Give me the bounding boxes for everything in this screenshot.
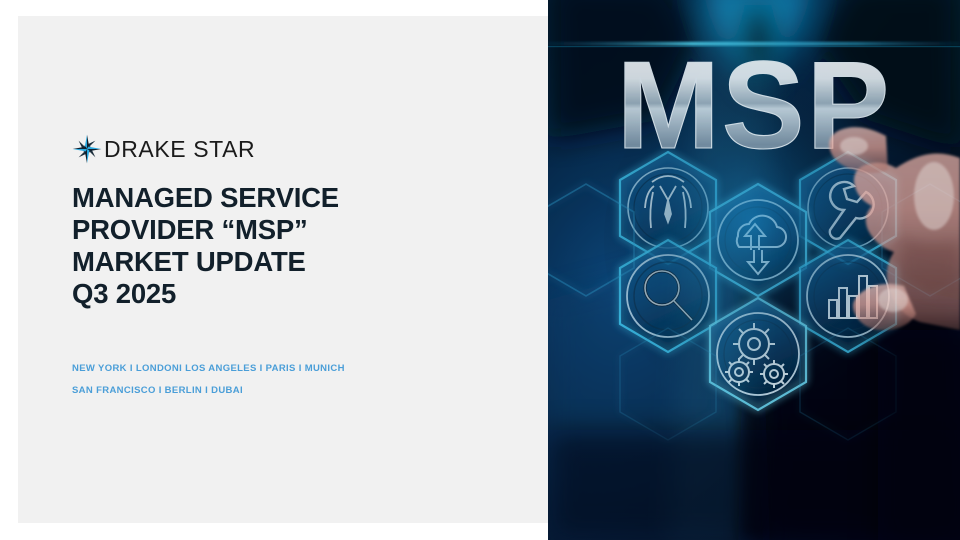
hero-photo: MSP	[548, 0, 960, 540]
title-slide: DRAKE STAR MANAGED SERVICE PROVIDER “MSP…	[0, 0, 960, 540]
office-line-2: SAN FRANCISCO I BERLIN I DUBAI	[72, 380, 492, 402]
compass-star-icon	[72, 134, 102, 164]
brand-logo: DRAKE STAR	[72, 134, 492, 164]
page-title: MANAGED SERVICE PROVIDER “MSP” MARKET UP…	[72, 182, 492, 310]
brand-wordmark: DRAKE STAR	[104, 138, 255, 161]
content-block: DRAKE STAR MANAGED SERVICE PROVIDER “MSP…	[72, 134, 492, 402]
office-locations: NEW YORK I LONDONI LOS ANGELES I PARIS I…	[72, 358, 492, 403]
office-line-1: NEW YORK I LONDONI LOS ANGELES I PARIS I…	[72, 358, 492, 380]
left-content-panel: DRAKE STAR MANAGED SERVICE PROVIDER “MSP…	[18, 16, 548, 523]
